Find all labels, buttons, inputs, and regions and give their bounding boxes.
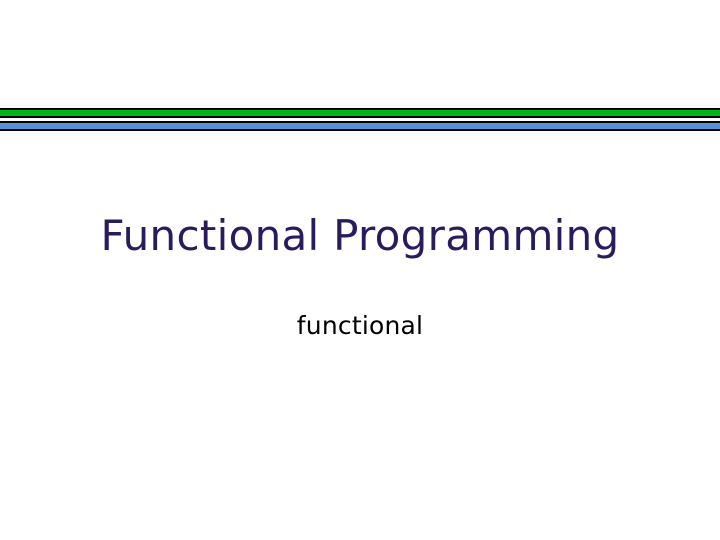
- slide-subtitle: functional: [0, 311, 720, 341]
- header-rule-band: [0, 108, 720, 131]
- rule-hairline-bottom: [0, 129, 720, 131]
- rule-hairline-under-green: [0, 116, 720, 118]
- slide-title: Functional Programming: [0, 212, 720, 259]
- slide-canvas: Functional Programming functional: [0, 0, 720, 540]
